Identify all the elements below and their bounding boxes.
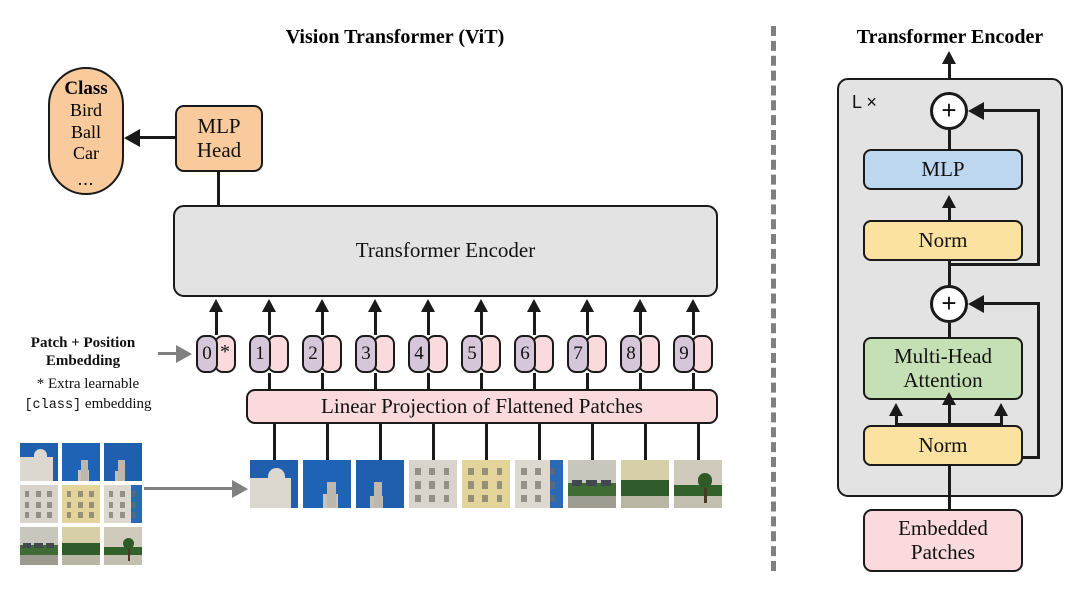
patch-to-projection-line — [326, 424, 329, 460]
token-arrow-stem — [427, 311, 430, 335]
top-residual-h-line — [984, 109, 1040, 112]
token-5: 5 — [461, 335, 501, 373]
norm-top-to-mlp-arrowhead — [942, 195, 956, 208]
source-grid-patch — [20, 527, 58, 565]
token-number-pill: 6 — [514, 335, 536, 373]
token-arrow-head — [474, 299, 488, 312]
sequence-patch — [303, 460, 351, 508]
embedding-label-line1: Patch + Position — [8, 334, 158, 352]
token-arrow-head — [527, 299, 541, 312]
image-patch — [20, 527, 58, 565]
image-patch — [621, 460, 669, 508]
source-to-sequence-line — [144, 487, 234, 490]
class-token-mono: [class] — [24, 398, 81, 413]
patch-to-projection-line — [379, 424, 382, 460]
token-number-pill: 2 — [302, 335, 324, 373]
top-residual-tap-line — [948, 263, 1040, 266]
class-output-item: Car — [73, 143, 99, 164]
qkv-arrow-right-head — [994, 403, 1008, 416]
token-number-pill: 5 — [461, 335, 483, 373]
token-0: 0* — [196, 335, 236, 373]
image-patch — [515, 460, 563, 508]
embedded-patches-label-line2: Patches — [911, 541, 975, 565]
bottom-add-symbol: + — [941, 290, 956, 316]
source-grid-patch — [62, 485, 100, 523]
patch-to-projection-line — [432, 424, 435, 460]
qkv-arrow-center-stem — [948, 403, 951, 425]
source-grid-patch — [104, 443, 142, 481]
multi-head-attention-block: Multi-Head Attention — [863, 337, 1023, 400]
embedded-patches-to-norm-line — [948, 466, 951, 511]
sequence-patch — [409, 460, 457, 508]
token-arrow-head — [633, 299, 647, 312]
norm-bottom-label: Norm — [919, 434, 968, 458]
right-panel-title: Transformer Encoder — [820, 26, 1080, 49]
left-panel-title: Vision Transformer (ViT) — [195, 26, 595, 49]
mlp-block: MLP — [863, 149, 1023, 190]
token-arrow-head — [315, 299, 329, 312]
vit-architecture-diagram: Vision Transformer (ViT) Class Bird Ball… — [0, 0, 1080, 593]
image-patch — [250, 460, 298, 508]
class-output-ellipsis: ... — [78, 170, 95, 188]
sequence-patch — [621, 460, 669, 508]
patch-to-projection-line — [591, 424, 594, 460]
token-arrow-stem — [639, 311, 642, 335]
bottom-add-to-norm-top-line — [948, 261, 951, 287]
token-8: 8 — [620, 335, 660, 373]
encoder-output-arrowhead — [942, 51, 956, 64]
mlp-head-label-line2: Head — [197, 139, 241, 163]
mlp-head-block: MLP Head — [175, 105, 263, 172]
embedding-label-line2: Embedding — [8, 352, 158, 370]
token-number-pill: 0 — [196, 335, 218, 373]
embedding-label-arrow-line — [158, 352, 178, 355]
token-arrow-stem — [586, 311, 589, 335]
patch-position-embedding-label: Patch + Position Embedding — [8, 334, 158, 371]
source-to-sequence-arrowhead — [232, 480, 248, 498]
image-patch — [674, 460, 722, 508]
top-residual-v-line — [1037, 109, 1040, 266]
mlp-head-to-class-line — [139, 136, 177, 139]
norm-top-label: Norm — [919, 229, 968, 253]
embedded-patches-block: Embedded Patches — [863, 509, 1023, 572]
image-patch — [104, 443, 142, 481]
image-patch — [303, 460, 351, 508]
patch-to-projection-line — [538, 424, 541, 460]
linear-projection-block: Linear Projection of Flattened Patches — [246, 389, 718, 424]
bottom-residual-h-line — [984, 302, 1040, 305]
image-patch — [20, 485, 58, 523]
mha-label-line1: Multi-Head — [894, 345, 992, 369]
token-arrow-stem — [692, 311, 695, 335]
class-output-item: Bird — [70, 100, 102, 121]
norm-top-block: Norm — [863, 220, 1023, 261]
mlp-head-to-class-arrowhead — [124, 129, 140, 147]
token-1: 1 — [249, 335, 289, 373]
sequence-patch — [568, 460, 616, 508]
patch-to-projection-line — [644, 424, 647, 460]
token-arrow-stem — [268, 311, 271, 335]
qkv-arrow-left-head — [889, 403, 903, 416]
token-arrow-stem — [321, 311, 324, 335]
mha-label-line2: Attention — [903, 369, 982, 393]
top-residual-arrowhead — [968, 102, 984, 120]
token-arrow-head — [209, 299, 223, 312]
qkv-arrow-center-head — [942, 392, 956, 405]
image-patch — [104, 527, 142, 565]
note-line-2: [class] embedding — [8, 395, 168, 415]
top-add-symbol: + — [941, 97, 956, 123]
token-number-pill: 3 — [355, 335, 377, 373]
transformer-encoder-block: Transformer Encoder — [173, 205, 718, 297]
sequence-patch — [674, 460, 722, 508]
image-patch — [62, 527, 100, 565]
note-line-1: * Extra learnable — [8, 375, 168, 395]
token-number-pill: 1 — [249, 335, 271, 373]
sequence-patch — [356, 460, 404, 508]
token-number-pill: 7 — [567, 335, 589, 373]
mlp-head-to-encoder-line — [217, 172, 220, 207]
source-grid-patch — [20, 443, 58, 481]
token-number-pill: 9 — [673, 335, 695, 373]
extra-learnable-note: * Extra learnable [class] embedding — [8, 375, 168, 414]
class-output-header: Class — [64, 78, 107, 100]
token-arrow-head — [262, 299, 276, 312]
panel-divider — [771, 26, 776, 571]
sequence-patch — [462, 460, 510, 508]
token-7: 7 — [567, 335, 607, 373]
token-arrow-head — [580, 299, 594, 312]
bottom-residual-arrowhead — [968, 295, 984, 313]
image-patch — [356, 460, 404, 508]
image-patch — [104, 485, 142, 523]
class-output-item: Ball — [71, 122, 101, 143]
source-grid-patch — [62, 527, 100, 565]
token-arrow-head — [686, 299, 700, 312]
note-line-2-tail: embedding — [81, 396, 151, 412]
image-patch — [62, 443, 100, 481]
bottom-residual-add: + — [930, 285, 968, 323]
source-grid-patch — [104, 527, 142, 565]
token-arrow-head — [421, 299, 435, 312]
token-arrow-stem — [215, 311, 218, 335]
class-output-box: Class Bird Ball Car ... — [48, 67, 124, 195]
source-grid-patch — [20, 485, 58, 523]
token-arrow-head — [368, 299, 382, 312]
mlp-head-label-line1: MLP — [197, 115, 240, 139]
token-number-pill: 8 — [620, 335, 642, 373]
patch-to-projection-line — [485, 424, 488, 460]
mlp-block-label: MLP — [921, 158, 964, 182]
embedded-patches-label-line1: Embedded — [898, 517, 988, 541]
token-arrow-stem — [374, 311, 377, 335]
patch-to-projection-line — [273, 424, 276, 460]
token-6: 6 — [514, 335, 554, 373]
token-3: 3 — [355, 335, 395, 373]
token-arrow-stem — [533, 311, 536, 335]
transformer-encoder-label: Transformer Encoder — [356, 239, 535, 263]
linear-projection-label: Linear Projection of Flattened Patches — [321, 395, 643, 419]
bottom-residual-v-line — [1037, 302, 1040, 459]
patch-to-projection-line — [697, 424, 700, 460]
sequence-patch — [250, 460, 298, 508]
image-patch — [568, 460, 616, 508]
repeat-count-label: L × — [852, 92, 877, 113]
source-grid-patch — [62, 443, 100, 481]
norm-bottom-block: Norm — [863, 425, 1023, 466]
token-arrow-stem — [480, 311, 483, 335]
image-patch — [20, 443, 58, 481]
image-patch — [62, 485, 100, 523]
image-patch — [462, 460, 510, 508]
top-residual-add: + — [930, 92, 968, 130]
token-9: 9 — [673, 335, 713, 373]
token-4: 4 — [408, 335, 448, 373]
source-grid-patch — [104, 485, 142, 523]
token-number-pill: 4 — [408, 335, 430, 373]
token-2: 2 — [302, 335, 342, 373]
embedding-label-arrowhead — [176, 345, 192, 363]
sequence-patch — [515, 460, 563, 508]
image-patch — [409, 460, 457, 508]
